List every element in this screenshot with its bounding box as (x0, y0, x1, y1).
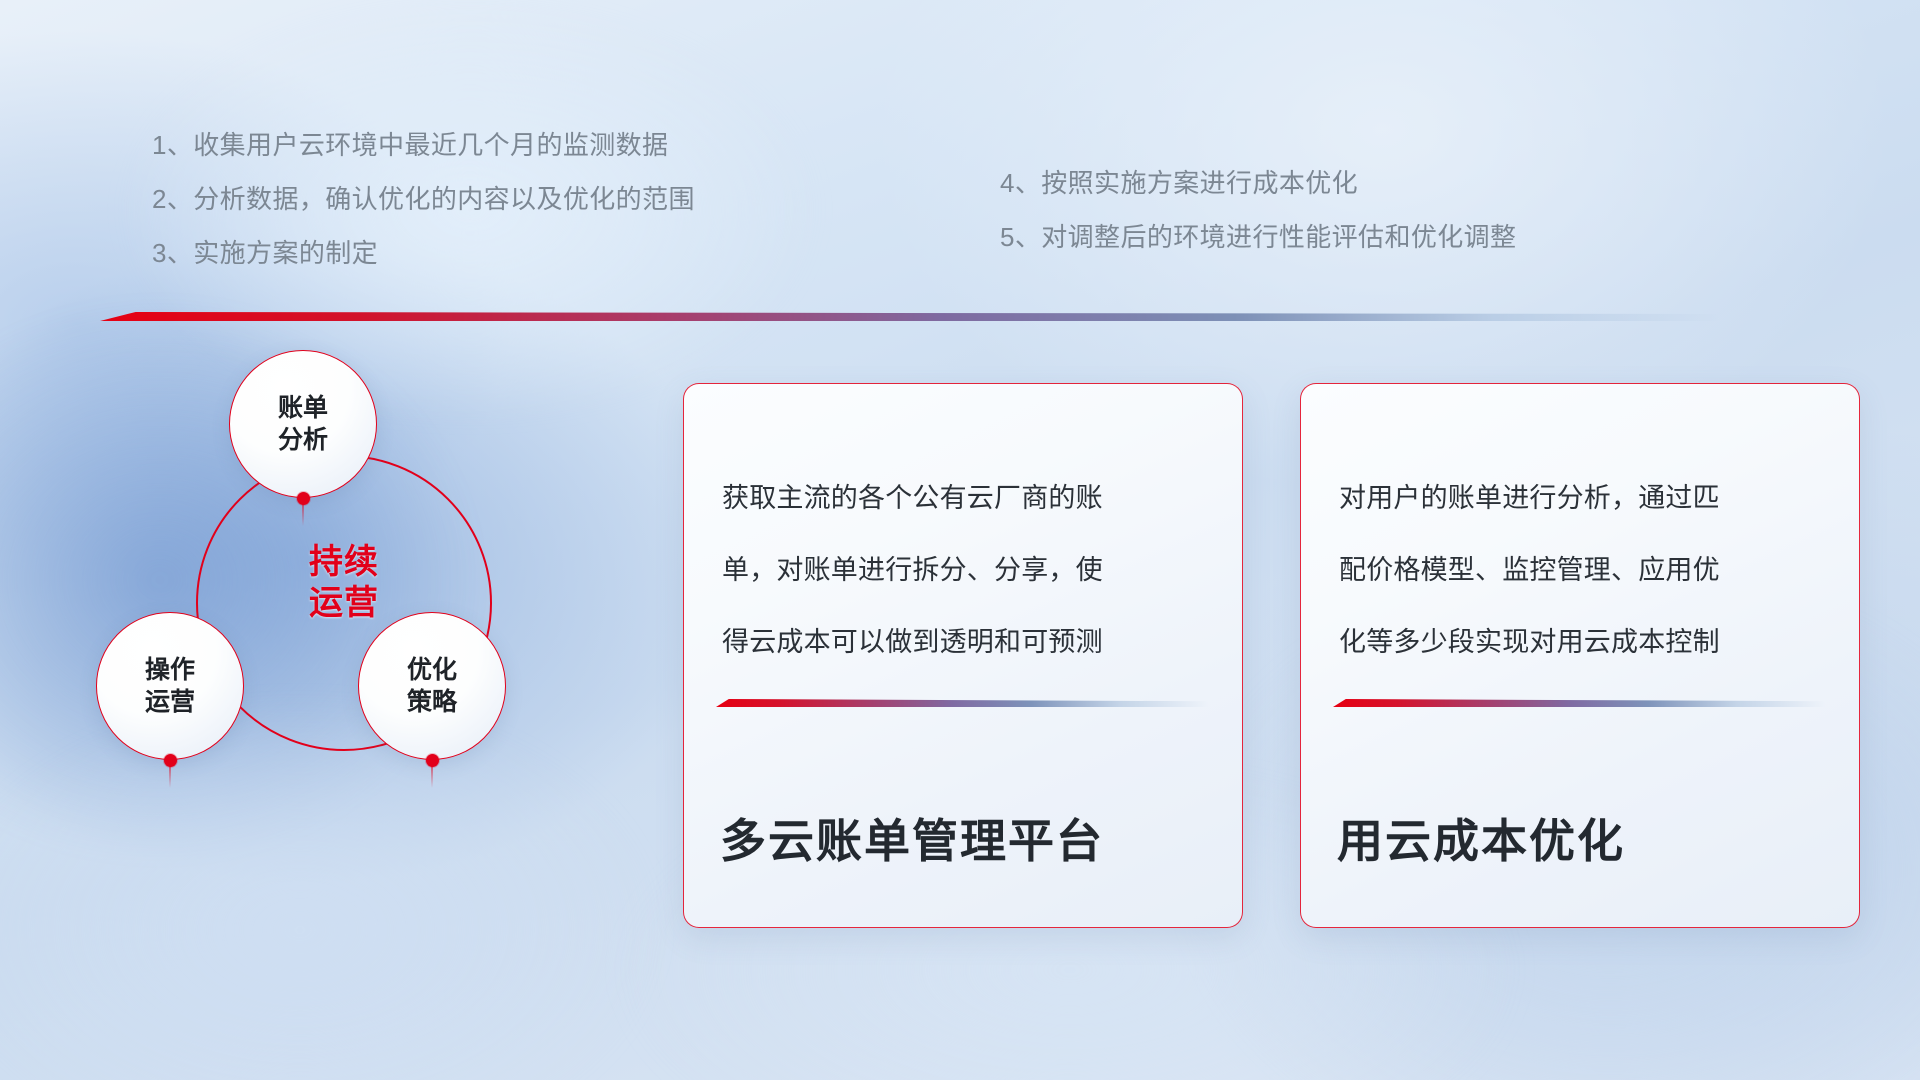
section-divider (100, 312, 1720, 326)
card-title: 用云成本优化 (1337, 805, 1625, 871)
diagram-node-dot-right (426, 754, 439, 767)
card-body-line: 化等多少段实现对用云成本控制 (1339, 606, 1825, 678)
card-body-line: 单，对账单进行拆分、分享，使 (722, 534, 1208, 606)
card-body-line: 配价格模型、监控管理、应用优 (1339, 534, 1825, 606)
bubble-label-line-1: 账单 (278, 392, 328, 424)
continuous-operations-diagram: 持续 运营 账单 分析 操作 运营 优化 策略 (96, 350, 616, 910)
slide-canvas: 1、收集用户云环境中最近几个月的监测数据 2、分析数据，确认优化的内容以及优化的… (0, 0, 1920, 1080)
steps-section: 1、收集用户云环境中最近几个月的监测数据 2、分析数据，确认优化的内容以及优化的… (0, 118, 1920, 298)
card-body-line: 得云成本可以做到透明和可预测 (722, 606, 1208, 678)
feature-card-multicloud-billing[interactable]: 获取主流的各个公有云厂商的账 单，对账单进行拆分、分享，使 得云成本可以做到透明… (683, 383, 1243, 928)
bubble-label-line-2: 运营 (145, 686, 195, 718)
diagram-node-dot-left (164, 754, 177, 767)
diagram-node-dot-top (297, 492, 310, 505)
diagram-center-label: 持续 运营 (248, 542, 440, 625)
center-label-line-1: 持续 (248, 542, 440, 583)
divider-bar (100, 312, 1720, 321)
step-item: 4、按照实施方案进行成本优化 (1000, 156, 1516, 210)
card-accent-rule-bar (716, 699, 1208, 707)
diagram-bubble-bill-analysis[interactable]: 账单 分析 (229, 350, 377, 498)
step-item: 2、分析数据，确认优化的内容以及优化的范围 (152, 172, 695, 226)
feature-card-cloud-cost-optimization[interactable]: 对用户的账单进行分析，通过匹 配价格模型、监控管理、应用优 化等多少段实现对用云… (1300, 383, 1860, 928)
card-body: 获取主流的各个公有云厂商的账 单，对账单进行拆分、分享，使 得云成本可以做到透明… (722, 462, 1208, 678)
card-body: 对用户的账单进行分析，通过匹 配价格模型、监控管理、应用优 化等多少段实现对用云… (1339, 462, 1825, 678)
bubble-label-line-1: 优化 (407, 654, 457, 686)
card-accent-rule-bar (1333, 699, 1825, 707)
step-item: 5、对调整后的环境进行性能评估和优化调整 (1000, 210, 1516, 264)
steps-column-left: 1、收集用户云环境中最近几个月的监测数据 2、分析数据，确认优化的内容以及优化的… (152, 118, 695, 280)
steps-column-right: 4、按照实施方案进行成本优化 5、对调整后的环境进行性能评估和优化调整 (1000, 156, 1516, 264)
card-body-line: 获取主流的各个公有云厂商的账 (722, 462, 1208, 534)
card-body-line: 对用户的账单进行分析，通过匹 (1339, 462, 1825, 534)
step-item: 1、收集用户云环境中最近几个月的监测数据 (152, 118, 695, 172)
bubble-label-line-2: 策略 (407, 686, 457, 718)
bubble-label-line-2: 分析 (278, 424, 328, 456)
bubble-label-line-1: 操作 (145, 654, 195, 686)
step-item: 3、实施方案的制定 (152, 226, 695, 280)
card-accent-rule (1333, 699, 1825, 710)
card-accent-rule (716, 699, 1208, 710)
diagram-bubble-optimization-strategy[interactable]: 优化 策略 (358, 612, 506, 760)
feature-cards: 获取主流的各个公有云厂商的账 单，对账单进行拆分、分享，使 得云成本可以做到透明… (683, 383, 1888, 940)
diagram-bubble-operations[interactable]: 操作 运营 (96, 612, 244, 760)
card-title: 多云账单管理平台 (720, 805, 1104, 871)
